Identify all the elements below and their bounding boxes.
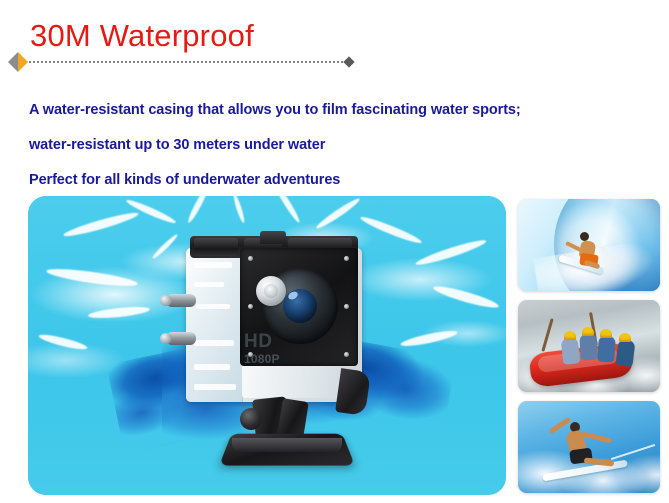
camera-resolution-label: 1080P <box>244 352 280 366</box>
rafter-person <box>615 339 635 367</box>
rafter-person <box>561 337 581 365</box>
top-bar-segment <box>194 238 238 256</box>
rafter-helmet-icon <box>582 327 594 336</box>
housing-ridge <box>194 340 234 346</box>
rafter-person <box>579 334 597 361</box>
rafter-helmet-icon <box>600 329 612 338</box>
diamond-bullet-left-half <box>8 52 18 72</box>
mount-thumbscrew <box>240 408 262 430</box>
description-line-2: water-resistant up to 30 meters under wa… <box>29 137 325 153</box>
housing-clear-section <box>186 248 243 402</box>
camera-side-hood <box>335 368 371 416</box>
hero-product-image: HD 1080P <box>28 196 506 495</box>
diamond-bullet-icon <box>8 52 28 72</box>
dotted-line <box>28 61 343 63</box>
housing-latch-screw <box>166 332 196 345</box>
waterskiing-thumbnail <box>518 401 660 493</box>
mount-base-lip <box>232 438 342 452</box>
description-line-1: A water-resistant casing that allows you… <box>29 102 521 118</box>
housing-ridge <box>194 282 224 287</box>
housing-latch-screw <box>166 294 196 307</box>
plate-screw <box>344 304 349 309</box>
rafter-helmet-icon <box>619 333 631 342</box>
surfer-head <box>580 232 589 241</box>
camera-hd-label: HD <box>244 332 272 352</box>
title-divider <box>8 52 353 72</box>
surfing-thumbnail <box>518 199 660 291</box>
rafter-helmet-icon <box>564 331 576 340</box>
description-line-3: Perfect for all kinds of underwater adve… <box>29 172 340 188</box>
camera-shutter-dial <box>256 276 286 306</box>
housing-ridge <box>196 304 230 309</box>
plate-screw <box>344 256 349 261</box>
housing-top-latch <box>260 231 286 244</box>
page-title: 30M Waterproof <box>30 17 254 55</box>
action-camera: HD 1080P <box>180 232 376 470</box>
plate-screw <box>344 352 349 357</box>
housing-ridge <box>194 364 230 370</box>
plate-screw <box>248 256 253 261</box>
diamond-dot-icon <box>343 56 354 67</box>
housing-ridge <box>194 384 236 390</box>
plate-screw <box>248 304 253 309</box>
rafter-person <box>597 335 616 362</box>
diamond-bullet-right-half <box>18 52 28 72</box>
housing-ridge <box>194 262 232 268</box>
rafting-thumbnail <box>518 300 660 392</box>
